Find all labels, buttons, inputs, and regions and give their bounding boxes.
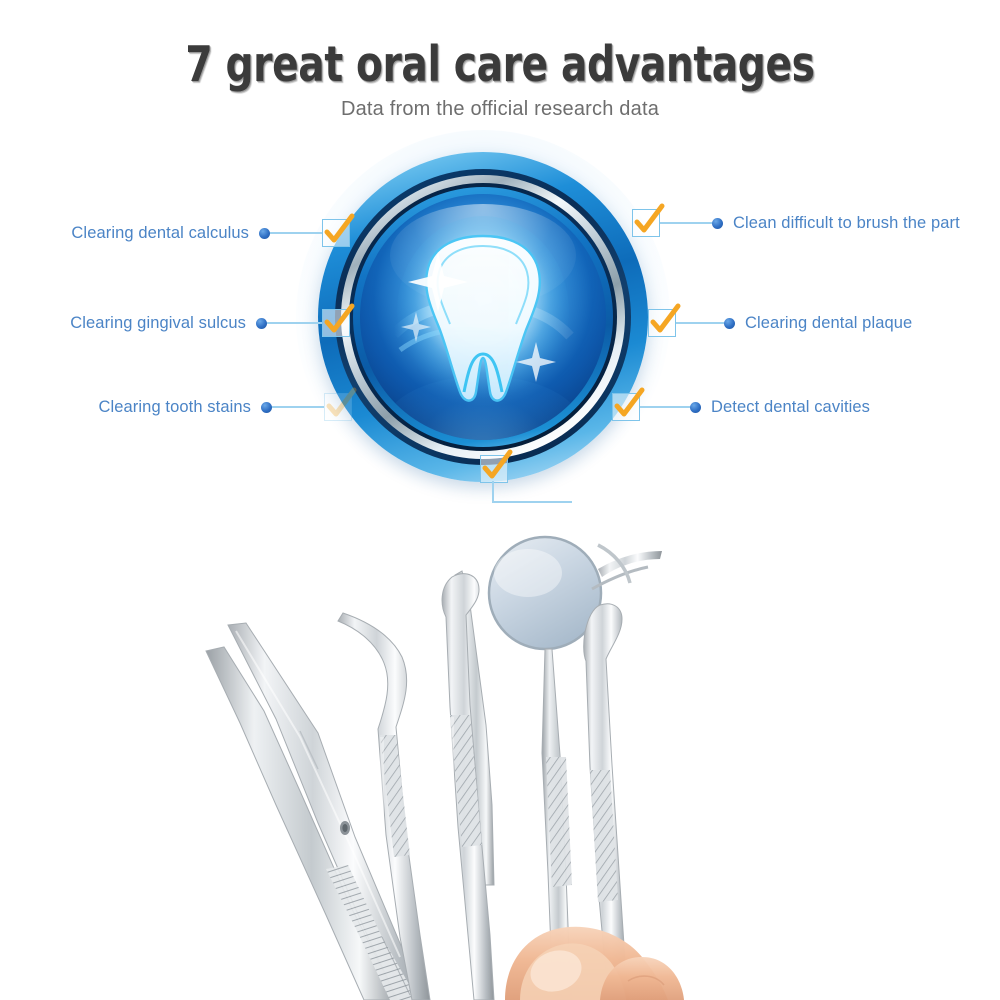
- bullet-dot-icon: [724, 318, 735, 329]
- check-icon: [608, 385, 648, 425]
- hand-holding-tools: [505, 927, 684, 1000]
- advantage-label: Clearing dental calculus: [71, 224, 249, 243]
- sickle-scaler-tool: [442, 571, 494, 1000]
- connector-line: [267, 322, 322, 324]
- checkbox-checked[interactable]: [632, 209, 660, 237]
- checkbox-checked[interactable]: [612, 393, 640, 421]
- bullet-dot-icon: [690, 402, 701, 413]
- bullet-dot-icon: [256, 318, 267, 329]
- dental-tools-illustration: [0, 505, 1000, 1000]
- advantage-label: Detect dental cavities: [711, 398, 870, 417]
- advantage-label: Clearing tooth stains: [98, 398, 251, 417]
- checkbox-checked[interactable]: [480, 455, 508, 483]
- bullet-dot-icon: [259, 228, 270, 239]
- check-icon: [628, 201, 668, 241]
- center-badge: [318, 152, 648, 482]
- connector-line: [272, 406, 324, 408]
- check-icon: [320, 385, 360, 425]
- callout-right-1[interactable]: Clean difficult to brush the part: [632, 208, 960, 238]
- check-icon: [644, 301, 684, 341]
- advantage-label: Clean difficult to brush the part: [733, 214, 960, 233]
- badge-face: [360, 194, 606, 440]
- checkbox-checked[interactable]: [324, 393, 352, 421]
- bullet-dot-icon: [712, 218, 723, 229]
- page-subtitle: Data from the official research data: [0, 98, 1000, 121]
- callout-right-3[interactable]: Detect dental cavities: [612, 392, 870, 422]
- callout-right-2[interactable]: Clearing dental plaque: [648, 308, 912, 338]
- callout-left-3[interactable]: Clearing tooth stains: [60, 392, 352, 422]
- infographic-page: 7 great oral care advantages Data from t…: [0, 0, 1000, 1000]
- connector-line: [492, 481, 572, 503]
- checkbox-checked[interactable]: [322, 219, 350, 247]
- dental-tools-photo: [0, 505, 1000, 1000]
- callout-left-2[interactable]: Clearing gingival sulcus: [20, 308, 350, 338]
- checkbox-checked[interactable]: [322, 309, 350, 337]
- tooth-icon: [360, 194, 606, 440]
- connector-line: [270, 232, 322, 234]
- check-icon: [318, 301, 358, 341]
- advantage-label: Clearing gingival sulcus: [70, 314, 246, 333]
- callout-left-1[interactable]: Clearing dental calculus: [40, 218, 350, 248]
- checkbox-checked[interactable]: [648, 309, 676, 337]
- check-icon: [318, 211, 358, 251]
- page-title: 7 great oral care advantages: [100, 36, 900, 93]
- advantage-label: Clearing dental plaque: [745, 314, 912, 333]
- bullet-dot-icon: [261, 402, 272, 413]
